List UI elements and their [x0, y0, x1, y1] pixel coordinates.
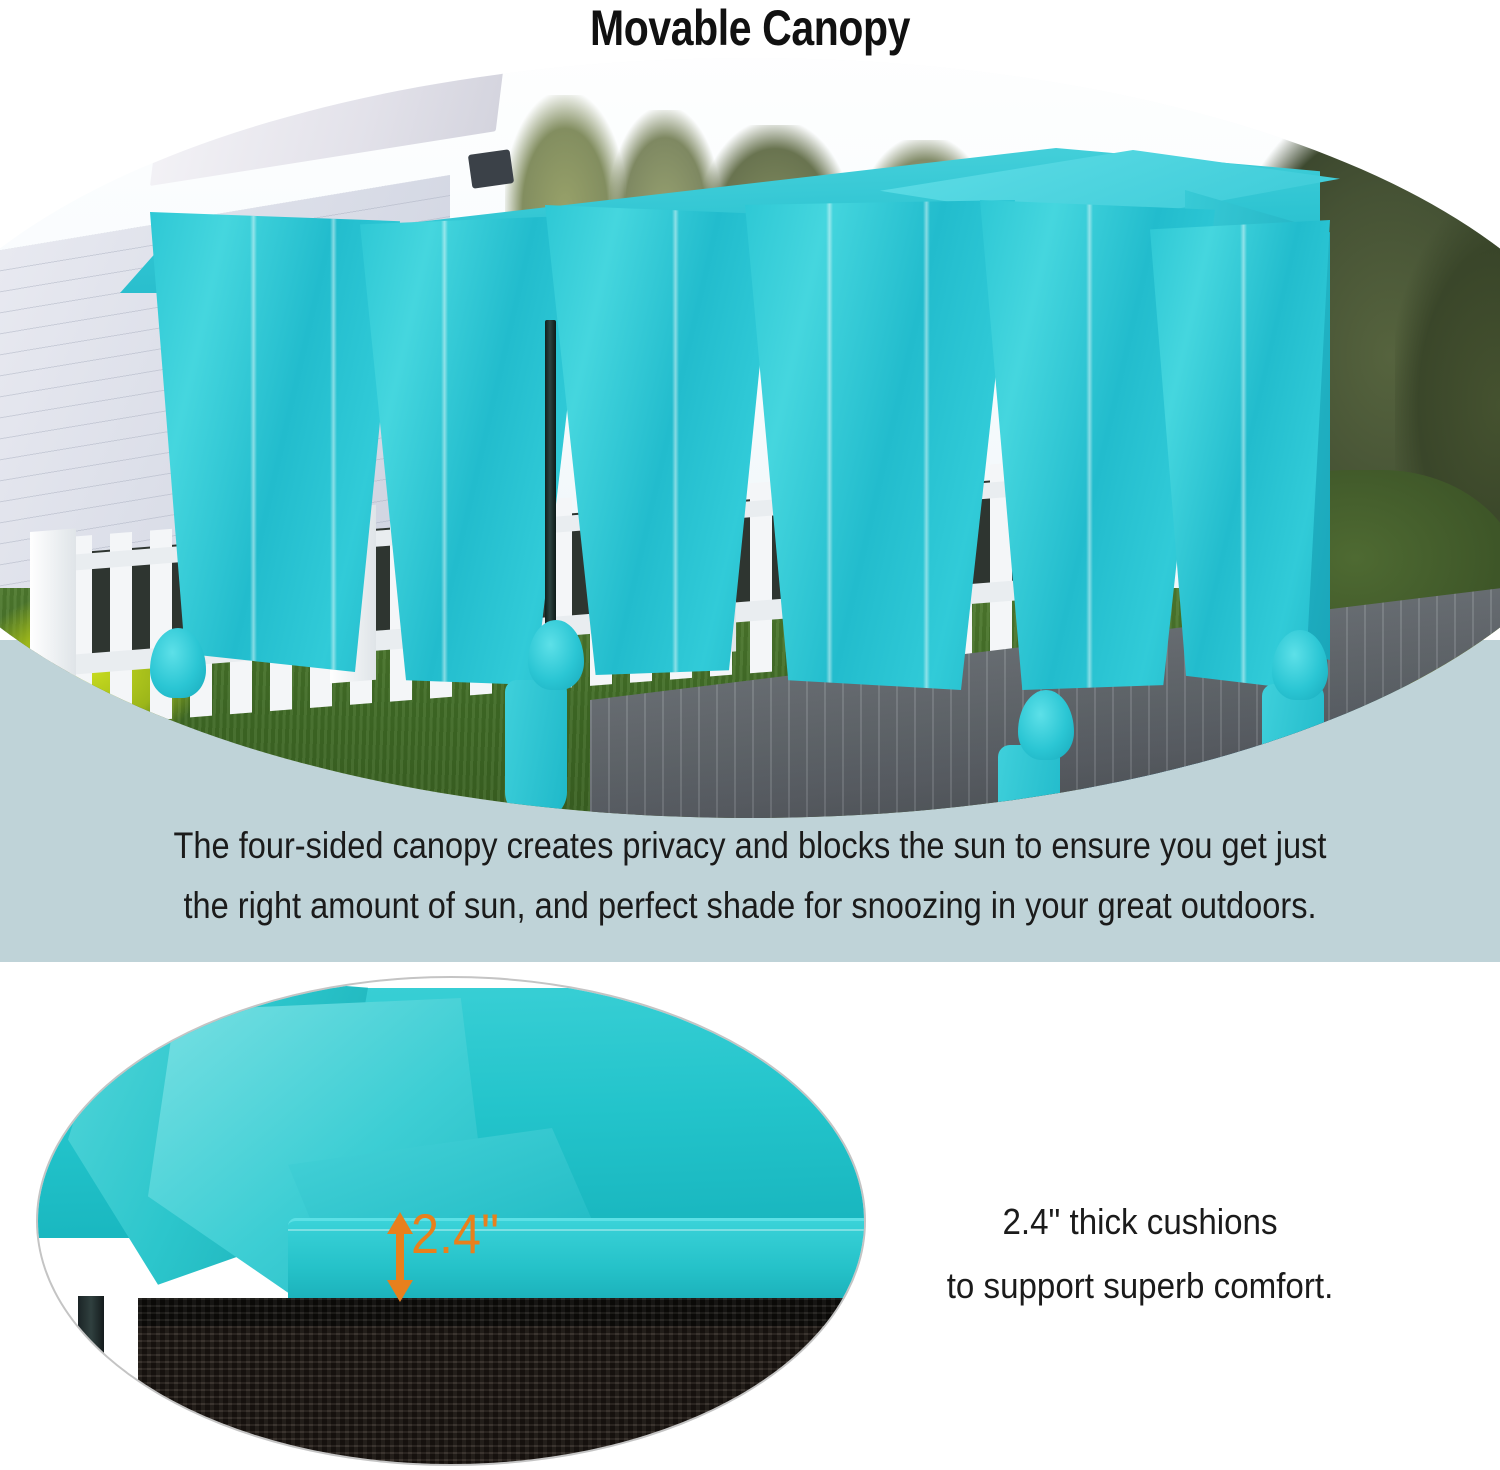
feature-caption: The four-sided canopy creates privacy an… — [134, 816, 1366, 936]
dark-wicker-base — [138, 1298, 866, 1466]
fabric-fold — [330, 212, 337, 672]
support-leg — [78, 1296, 104, 1466]
awning-end-cap — [468, 149, 514, 189]
fabric-fold — [441, 215, 448, 685]
dimension-label: 2.4" — [411, 1206, 499, 1262]
teal-cushion — [288, 1218, 866, 1306]
hero-photo-ellipse — [0, 58, 1500, 818]
cushion-seam — [288, 1229, 866, 1231]
fabric-fold — [1086, 200, 1093, 690]
page-title: Movable Canopy — [135, 2, 1365, 55]
curtain-drape — [505, 680, 567, 818]
fabric-fold — [250, 212, 257, 672]
cushion-callout-text: 2.4" thick cushions to support superb co… — [882, 1190, 1397, 1318]
wicker-weave-texture — [138, 1298, 866, 1466]
fabric-fold — [1240, 220, 1247, 690]
hero-scene — [0, 58, 1500, 818]
fabric-fold — [672, 205, 679, 675]
curtain-drape — [1262, 684, 1324, 818]
fabric-fold — [826, 200, 833, 690]
fabric-fold — [923, 200, 930, 690]
fence-post — [30, 528, 76, 707]
